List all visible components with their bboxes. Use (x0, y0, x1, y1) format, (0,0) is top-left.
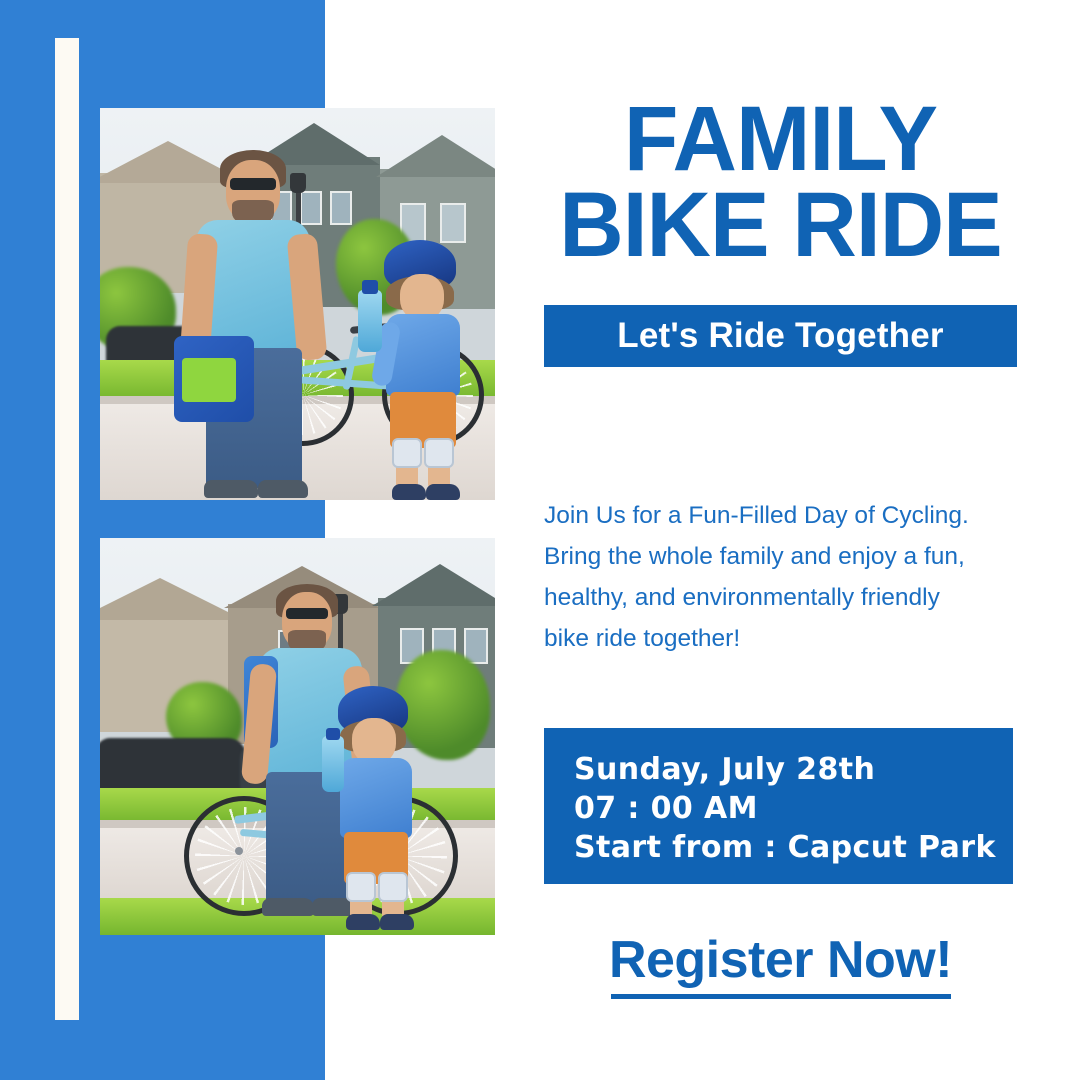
shoe (346, 914, 380, 930)
knee-pad (378, 872, 408, 902)
house-roof (100, 578, 244, 620)
knee-pad (424, 438, 454, 468)
knee-pad (346, 872, 376, 902)
window (440, 203, 466, 243)
body-line: Join Us for a Fun-Filled Day of Cycling. (544, 495, 1024, 536)
shirt (340, 758, 412, 838)
photo-scene-top (100, 108, 495, 500)
shoe (392, 484, 426, 500)
event-details-box: Sunday, July 28th 07 : 00 AM Start from … (544, 728, 1013, 884)
body-line: bike ride together! (544, 618, 1024, 659)
cta-underline (611, 994, 951, 999)
body-line: Bring the whole family and enjoy a fun, (544, 536, 1024, 577)
headline-line-1: FAMILY (551, 96, 1010, 183)
sunglasses (286, 608, 328, 619)
shoe (258, 480, 308, 498)
house-roof (376, 135, 495, 177)
water-bottle (358, 290, 382, 352)
body-line: healthy, and environmentally friendly (544, 577, 1024, 618)
tree (396, 650, 490, 760)
event-time: 07 : 00 AM (574, 789, 996, 828)
lamp-head (290, 173, 306, 193)
cream-vertical-stripe (55, 38, 79, 1020)
event-location: Start from : Capcut Park (574, 828, 996, 867)
photo-father-and-child-standing (100, 108, 495, 500)
register-now-cta[interactable]: Register Now! (544, 930, 1017, 999)
subtitle-text: Let's Ride Together (617, 316, 944, 356)
bottle-cap (326, 728, 340, 740)
headline-line-2: BIKE RIDE (551, 182, 1010, 269)
shoe (204, 480, 258, 498)
register-now-label[interactable]: Register Now! (609, 930, 952, 990)
window (330, 191, 352, 225)
water-bottle (322, 736, 344, 792)
shoe (426, 484, 460, 500)
cooler-bag-green-panel (182, 358, 236, 402)
photo-father-and-child-hugging (100, 538, 495, 935)
body-paragraph: Join Us for a Fun-Filled Day of Cycling.… (544, 495, 1024, 659)
house-roof (372, 564, 495, 606)
event-date: Sunday, July 28th (574, 750, 996, 789)
shoe (380, 914, 414, 930)
bottle-cap (362, 280, 378, 294)
shoe (262, 898, 314, 916)
poster-canvas: FAMILY BIKE RIDE Let's Ride Together Joi… (0, 0, 1080, 1080)
event-details-list: Sunday, July 28th 07 : 00 AM Start from … (574, 750, 996, 867)
knee-pad (392, 438, 422, 468)
wheel-hub (235, 847, 243, 855)
window (300, 191, 322, 225)
photo-scene-bottom (100, 538, 495, 935)
subtitle-banner: Let's Ride Together (544, 305, 1017, 367)
sunglasses (230, 178, 276, 190)
